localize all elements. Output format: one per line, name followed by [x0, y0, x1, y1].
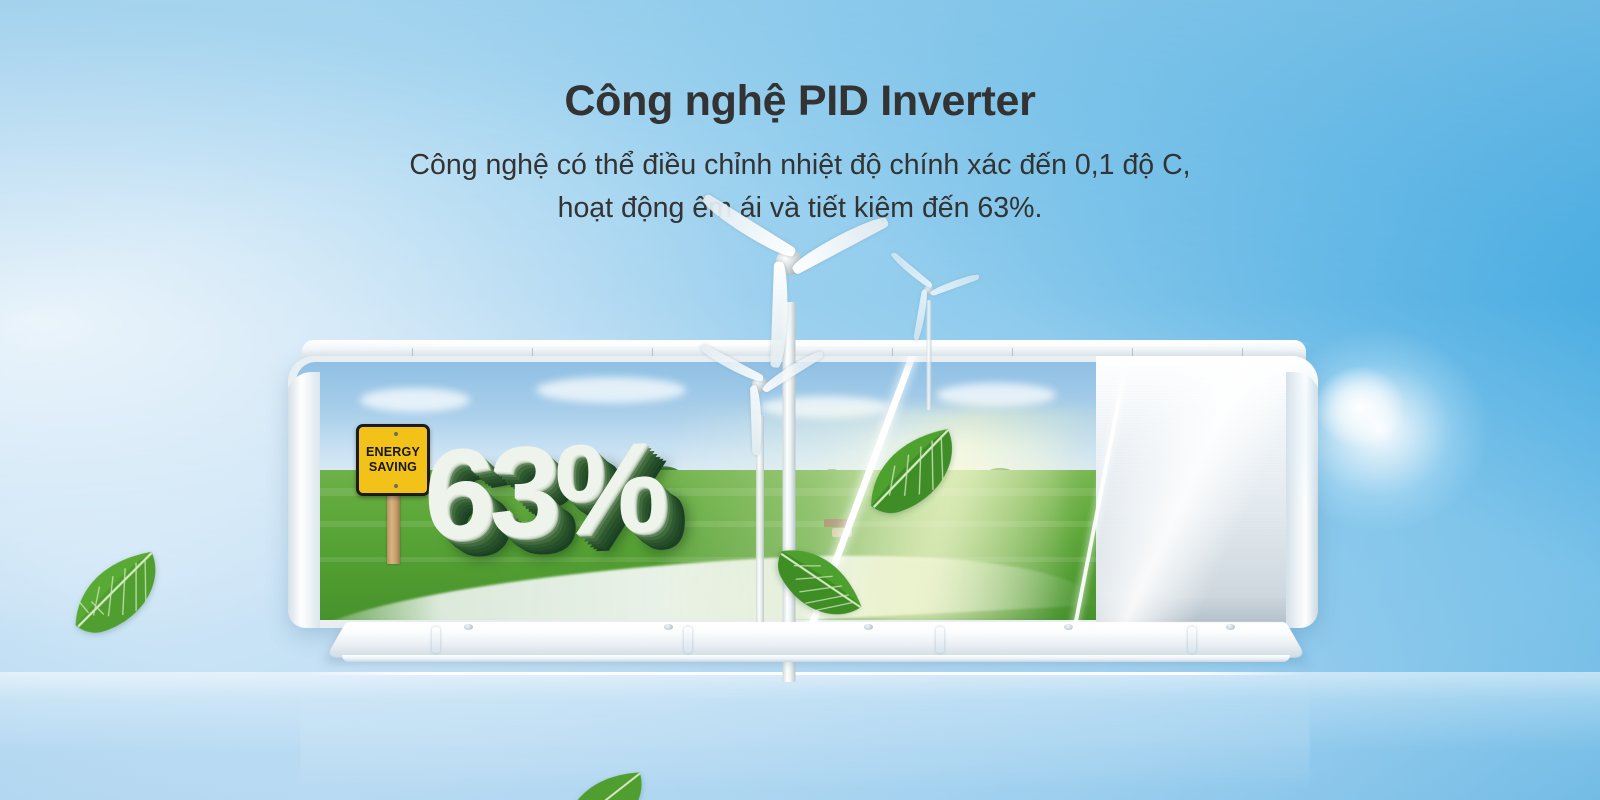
sign-label-line2: SAVING: [369, 460, 417, 475]
ac-air-outlet-louver[interactable]: [346, 622, 1286, 672]
air-vane: [936, 627, 944, 653]
promo-banner: Công nghệ PID Inverter Công nghệ có thể …: [0, 0, 1600, 800]
sign-post: [387, 484, 400, 564]
energy-saving-sign: ENERGY SAVING: [356, 424, 430, 564]
sign-plate: ENERGY SAVING: [356, 424, 430, 496]
ac-metal-panel: [1096, 356, 1318, 628]
louver-lip: [342, 655, 1290, 662]
air-vane: [432, 627, 440, 653]
air-vane: [684, 627, 692, 653]
sign-label-line1: ENERGY: [366, 445, 420, 460]
page-subtitle-line2: hoạt động êm ái và tiết kiệm đến 63%.: [0, 187, 1600, 230]
header-block: Công nghệ PID Inverter Công nghệ có thể …: [0, 0, 1600, 231]
page-title: Công nghệ PID Inverter: [0, 77, 1600, 125]
page-subtitle-line1: Công nghệ có thể điều chỉnh nhiệt độ chí…: [0, 144, 1600, 187]
energy-saving-value: 63%: [424, 424, 662, 560]
air-vane: [1188, 627, 1196, 653]
ac-right-cap: [1286, 372, 1318, 628]
unit-reflection: [300, 672, 1310, 790]
ac-left-cap: [288, 372, 320, 628]
